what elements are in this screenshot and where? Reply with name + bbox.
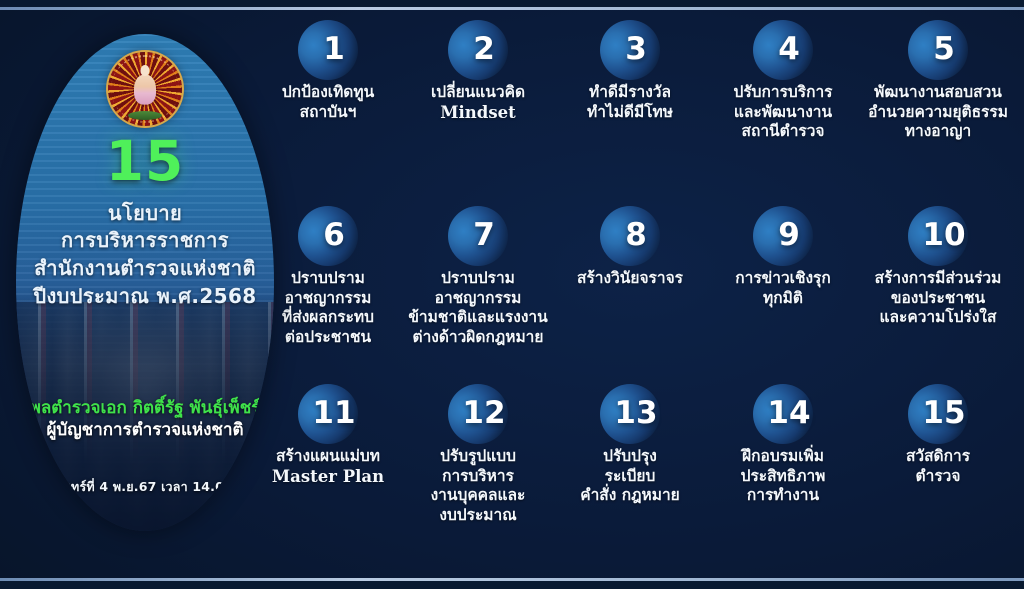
policy-label-english: Mindset — [402, 103, 554, 124]
policy-item-9: 9การข่าวเชิงรุกทุกมิติ — [707, 206, 859, 308]
policy-label-line: ประสิทธิภาพ — [707, 467, 859, 487]
policy-label: ปรับการบริการและพัฒนางานสถานีตำรวจ — [707, 83, 859, 142]
policy-number-badge: 8 — [600, 206, 660, 266]
policy-number-badge: 4 — [753, 20, 813, 80]
policy-label: พัฒนางานสอบสวนอำนวยความยุติธรรมทางอาญา — [862, 83, 1014, 142]
policy-number: 10 — [908, 220, 968, 251]
policy-number: 6 — [298, 220, 358, 251]
policy-number-badge: 12 — [448, 384, 508, 444]
policy-label-line: งบประมาณ — [402, 506, 554, 526]
policy-number: 1 — [298, 34, 358, 65]
policy-label: สร้างวินัยจราจร — [554, 269, 706, 289]
policy-item-11: 11สร้างแผนแม่บทMaster Plan — [252, 384, 404, 487]
policy-label-line: การบริหาร — [402, 467, 554, 487]
policy-item-15: 15สวัสดิการตำรวจ — [862, 384, 1014, 486]
policy-number-badge: 13 — [600, 384, 660, 444]
royal-thai-police-emblem-icon — [108, 52, 182, 126]
policy-label: ปราบปรามอาชญากรรมที่ส่งผลกระทบต่อประชาชน — [252, 269, 404, 347]
policy-label-line: ที่ส่งผลกระทบ — [252, 308, 404, 328]
policy-label-line: ระเบียบ — [554, 467, 706, 487]
policy-label: การข่าวเชิงรุกทุกมิติ — [707, 269, 859, 308]
policy-label: สร้างการมีส่วนร่วมของประชาชนและความโปร่ง… — [862, 269, 1014, 328]
policy-label-line: ฝึกอบรมเพิ่ม — [707, 447, 859, 467]
policy-label-line: ปรับปรุง — [554, 447, 706, 467]
policy-label-line: ปรับรูปแบบ — [402, 447, 554, 467]
policy-number-badge: 11 — [298, 384, 358, 444]
policy-number-badge: 10 — [908, 206, 968, 266]
policy-number: 9 — [753, 220, 813, 251]
policy-label-line: สร้างวินัยจราจร — [554, 269, 706, 289]
policy-label-line: สถานีตำรวจ — [707, 122, 859, 142]
policy-number-badge: 5 — [908, 20, 968, 80]
policy-label: ปรับรูปแบบการบริหารงานบุคคลและงบประมาณ — [402, 447, 554, 525]
event-datetime: วันจันทร์ที่ 4 พ.ย.67 เวลา 14.00 น. — [18, 477, 272, 497]
policy-number-badge: 7 — [448, 206, 508, 266]
policy-item-4: 4ปรับการบริการและพัฒนางานสถานีตำรวจ — [707, 20, 859, 142]
emblem-figure — [134, 75, 156, 105]
policy-label-line: สวัสดิการ — [862, 447, 1014, 467]
policy-label-line: พัฒนางานสอบสวน — [862, 83, 1014, 103]
bottom-edge-cap — [0, 581, 1024, 589]
policy-label-english: Master Plan — [252, 467, 404, 488]
policy-item-7: 7ปราบปรามอาชญากรรมข้ามชาติและแรงงานต่างด… — [402, 206, 554, 347]
policy-count-number: 15 — [16, 134, 274, 189]
policy-number: 12 — [448, 398, 508, 429]
policy-label-line: อาชญากรรม — [402, 289, 554, 309]
policy-number: 5 — [908, 34, 968, 65]
policy-label-line: ทางอาญา — [862, 122, 1014, 142]
policy-number: 3 — [600, 34, 660, 65]
policy-label-line: ของประชาชน — [862, 289, 1014, 309]
policy-number: 7 — [448, 220, 508, 251]
policy-number-badge: 2 — [448, 20, 508, 80]
policy-label-line: อำนวยความยุติธรรม — [862, 103, 1014, 123]
policy-label-line: ต่างด้าวผิดกฎหมาย — [402, 328, 554, 348]
policy-label-line: ตำรวจ — [862, 467, 1014, 487]
bottom-accent-bar — [0, 578, 1024, 581]
policy-label-line: ต่อประชาชน — [252, 328, 404, 348]
policy-label-line: สร้างแผนแม่บท — [252, 447, 404, 467]
policy-label-line: ทำดีมีรางวัล — [554, 83, 706, 103]
policy-label-line: ทุกมิติ — [707, 289, 859, 309]
policy-number-badge: 15 — [908, 384, 968, 444]
policy-label: ปราบปรามอาชญากรรมข้ามชาติและแรงงานต่างด้… — [402, 269, 554, 347]
policy-number: 2 — [448, 34, 508, 65]
policy-label: สวัสดิการตำรวจ — [862, 447, 1014, 486]
policy-label-line: และพัฒนางาน — [707, 103, 859, 123]
policy-number-badge: 3 — [600, 20, 660, 80]
policy-label: ฝึกอบรมเพิ่มประสิทธิภาพการทำงาน — [707, 447, 859, 506]
policy-item-10: 10สร้างการมีส่วนร่วมของประชาชนและความโปร… — [862, 206, 1014, 328]
left-oval-panel: 15 นโยบาย การบริหารราชการ สำนักงานตำรวจแ… — [16, 34, 274, 531]
policy-label-line: คำสั่ง กฎหมาย — [554, 486, 706, 506]
policy-label: ปกป้องเทิดทูนสถาบันฯ — [252, 83, 404, 122]
policy-label-line: ข้ามชาติและแรงงาน — [402, 308, 554, 328]
policy-grid: 1ปกป้องเทิดทูนสถาบันฯ2เปลี่ยนแนวคิดMinds… — [262, 20, 1024, 572]
policy-label: ปรับปรุงระเบียบคำสั่ง กฎหมาย — [554, 447, 706, 506]
policy-number: 14 — [753, 398, 813, 429]
policy-item-3: 3ทำดีมีรางวัลทำไม่ดีมีโทษ — [554, 20, 706, 122]
top-accent-bar — [0, 7, 1024, 10]
policy-number-badge: 1 — [298, 20, 358, 80]
infographic-poster: 15 นโยบาย การบริหารราชการ สำนักงานตำรวจแ… — [0, 0, 1024, 589]
policy-label-line: อาชญากรรม — [252, 289, 404, 309]
policy-label-line: และความโปร่งใส — [862, 308, 1014, 328]
policy-label: เปลี่ยนแนวคิดMindset — [402, 83, 554, 123]
policy-item-12: 12ปรับรูปแบบการบริหารงานบุคคลและงบประมาณ — [402, 384, 554, 525]
policy-number: 8 — [600, 220, 660, 251]
policy-number: 13 — [600, 398, 660, 429]
policy-label-line: การข่าวเชิงรุก — [707, 269, 859, 289]
emblem-head — [141, 65, 150, 76]
policy-number-badge: 14 — [753, 384, 813, 444]
policy-number: 15 — [908, 398, 968, 429]
policy-item-5: 5พัฒนางานสอบสวนอำนวยความยุติธรรมทางอาญา — [862, 20, 1014, 142]
policy-item-14: 14ฝึกอบรมเพิ่มประสิทธิภาพการทำงาน — [707, 384, 859, 506]
policy-item-6: 6ปราบปรามอาชญากรรมที่ส่งผลกระทบต่อประชาช… — [252, 206, 404, 347]
policy-item-2: 2เปลี่ยนแนวคิดMindset — [402, 20, 554, 123]
policy-label-line: เปลี่ยนแนวคิด — [402, 83, 554, 103]
policy-label: ทำดีมีรางวัลทำไม่ดีมีโทษ — [554, 83, 706, 122]
officer-role: ผู้บัญชาการตำรวจแห่งชาติ — [18, 416, 272, 443]
policy-item-1: 1ปกป้องเทิดทูนสถาบันฯ — [252, 20, 404, 122]
policy-label-line: ปราบปราม — [402, 269, 554, 289]
policy-label-line: สถาบันฯ — [252, 103, 404, 123]
policy-label-line: การทำงาน — [707, 486, 859, 506]
policy-label: สร้างแผนแม่บทMaster Plan — [252, 447, 404, 487]
emblem-base — [128, 111, 162, 120]
policy-item-13: 13ปรับปรุงระเบียบคำสั่ง กฎหมาย — [554, 384, 706, 506]
policy-number-badge: 9 — [753, 206, 813, 266]
policy-label-line: ทำไม่ดีมีโทษ — [554, 103, 706, 123]
policy-item-8: 8สร้างวินัยจราจร — [554, 206, 706, 289]
panel-title-line-4: ปีงบประมาณ พ.ศ.2568 — [20, 280, 270, 312]
policy-label-line: ปรับการบริการ — [707, 83, 859, 103]
policy-number-badge: 6 — [298, 206, 358, 266]
policy-number: 11 — [298, 398, 358, 429]
top-edge-cap — [0, 0, 1024, 7]
policy-label-line: ปราบปราม — [252, 269, 404, 289]
policy-label-line: ปกป้องเทิดทูน — [252, 83, 404, 103]
policy-label-line: งานบุคคลและ — [402, 486, 554, 506]
policy-number: 4 — [753, 34, 813, 65]
policy-label-line: สร้างการมีส่วนร่วม — [862, 269, 1014, 289]
